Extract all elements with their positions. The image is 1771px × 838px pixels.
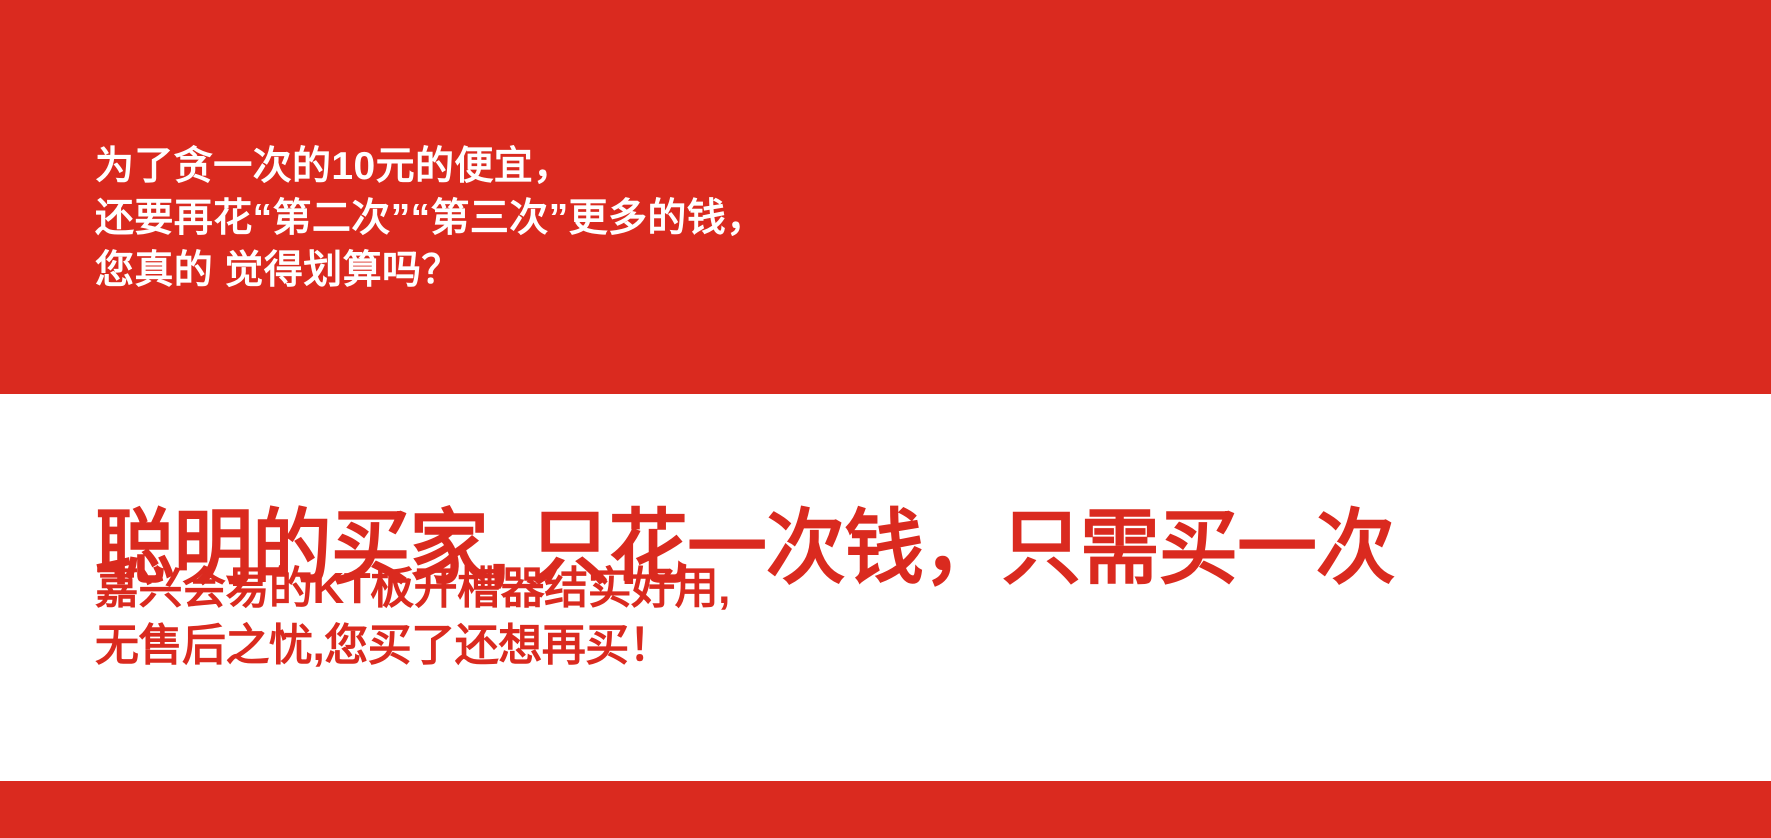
top-red-banner: 为了贪一次的10元的便宜， 还要再花“第二次”“第三次”更多的钱， 您真的 觉得… [0,0,1771,394]
subline-block: 嘉兴会易的KT板开槽器结实好用, 无售后之忧,您买了还想再买！ [95,560,1695,674]
white-content-band: 聪明的买家, 只花一次钱，只需买一次 嘉兴会易的KT板开槽器结实好用, 无售后之… [0,394,1771,781]
top-banner-text-block: 为了贪一次的10元的便宜， 还要再花“第二次”“第三次”更多的钱， 您真的 觉得… [95,141,1695,297]
promotional-poster: 为了贪一次的10元的便宜， 还要再花“第二次”“第三次”更多的钱， 您真的 觉得… [0,0,1771,838]
top-banner-line-3: 您真的 觉得划算吗？ [95,245,1695,297]
bottom-red-bar [0,781,1771,838]
subline-2: 无售后之忧,您买了还想再买！ [95,617,1695,674]
subline-1: 嘉兴会易的KT板开槽器结实好用, [95,560,1695,617]
top-banner-line-1: 为了贪一次的10元的便宜， [95,141,1695,193]
top-banner-line-2: 还要再花“第二次”“第三次”更多的钱， [95,193,1695,245]
